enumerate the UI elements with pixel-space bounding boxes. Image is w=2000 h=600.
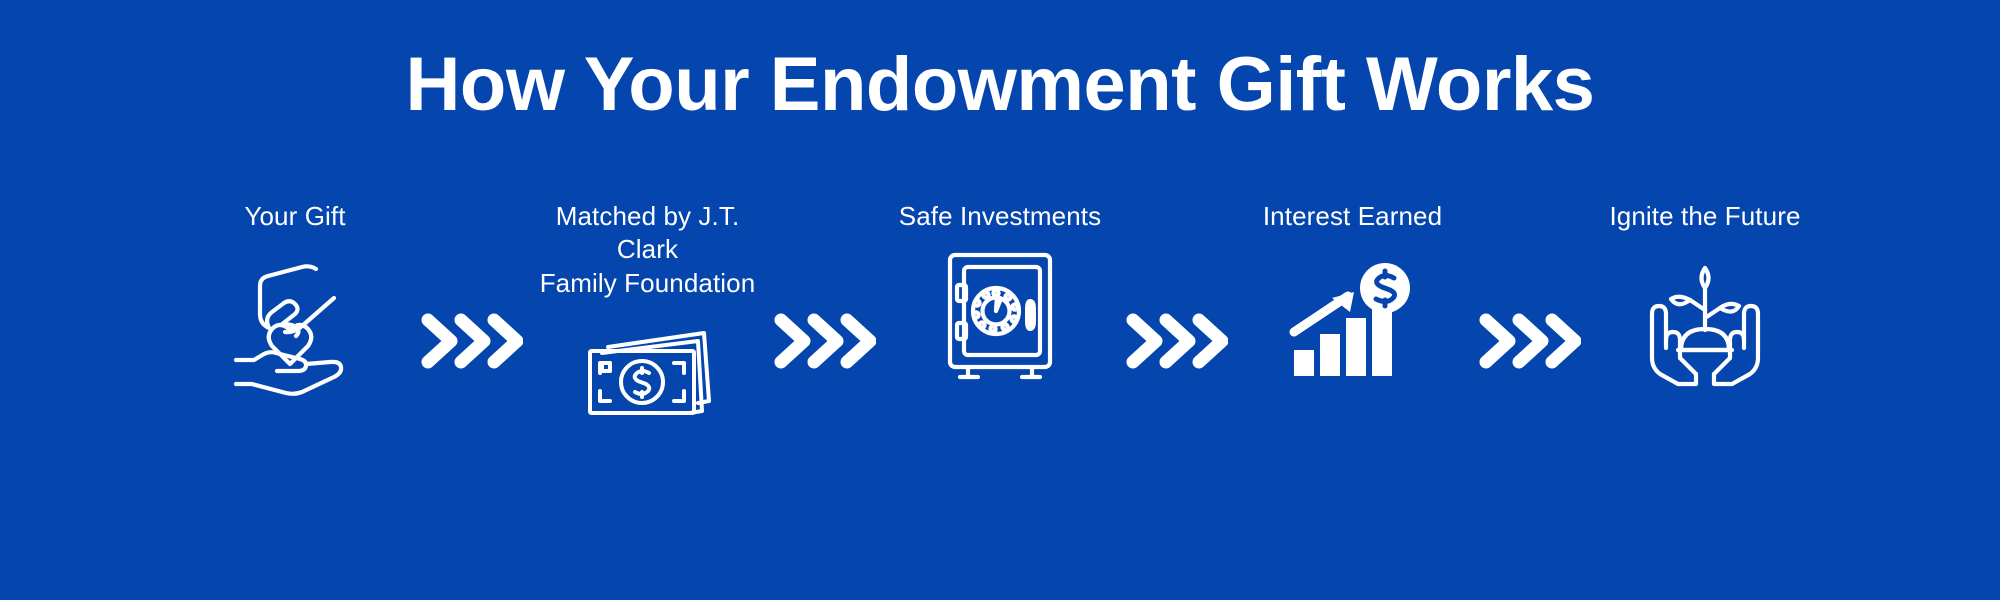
triple-chevron-right-icon	[419, 310, 523, 377]
connector-1	[411, 200, 531, 377]
title-container: How Your Endowment Gift Works	[0, 46, 2000, 124]
connector-2	[764, 200, 884, 377]
step-label-matched-by-foundation: Matched by J.T. Clark Family Foundation	[533, 200, 763, 300]
connector-3	[1116, 200, 1236, 377]
flow-step-ignite-the-future: Ignite the Future	[1590, 200, 1820, 394]
flow-diagram: Your Gift	[180, 200, 1820, 450]
step-label-interest-earned: Interest Earned	[1263, 200, 1442, 234]
hand-giving-heart-icon	[220, 256, 370, 396]
banknotes-dollar-icon	[573, 310, 723, 450]
step-label-ignite-the-future: Ignite the Future	[1609, 200, 1800, 234]
flow-step-interest-earned: Interest Earned	[1238, 200, 1468, 392]
flow-step-your-gift: Your Gift	[180, 200, 410, 396]
step-label-your-gift: Your Gift	[244, 200, 345, 234]
triple-chevron-right-icon	[772, 310, 876, 377]
triple-chevron-right-icon	[1477, 310, 1581, 377]
flow-step-safe-investments: Safe Investments	[885, 200, 1115, 384]
step-label-safe-investments: Safe Investments	[899, 200, 1101, 234]
safe-vault-icon	[925, 244, 1075, 384]
growth-bar-chart-dollar-icon	[1278, 252, 1428, 392]
endowment-infographic: How Your Endowment Gift Works Your Gift	[0, 0, 2000, 600]
page-title: How Your Endowment Gift Works	[406, 46, 1595, 124]
triple-chevron-right-icon	[1124, 310, 1228, 377]
hands-holding-seedling-icon	[1630, 254, 1780, 394]
flow-step-matched-by-foundation: Matched by J.T. Clark Family Foundation	[533, 200, 763, 450]
connector-4	[1469, 200, 1589, 377]
